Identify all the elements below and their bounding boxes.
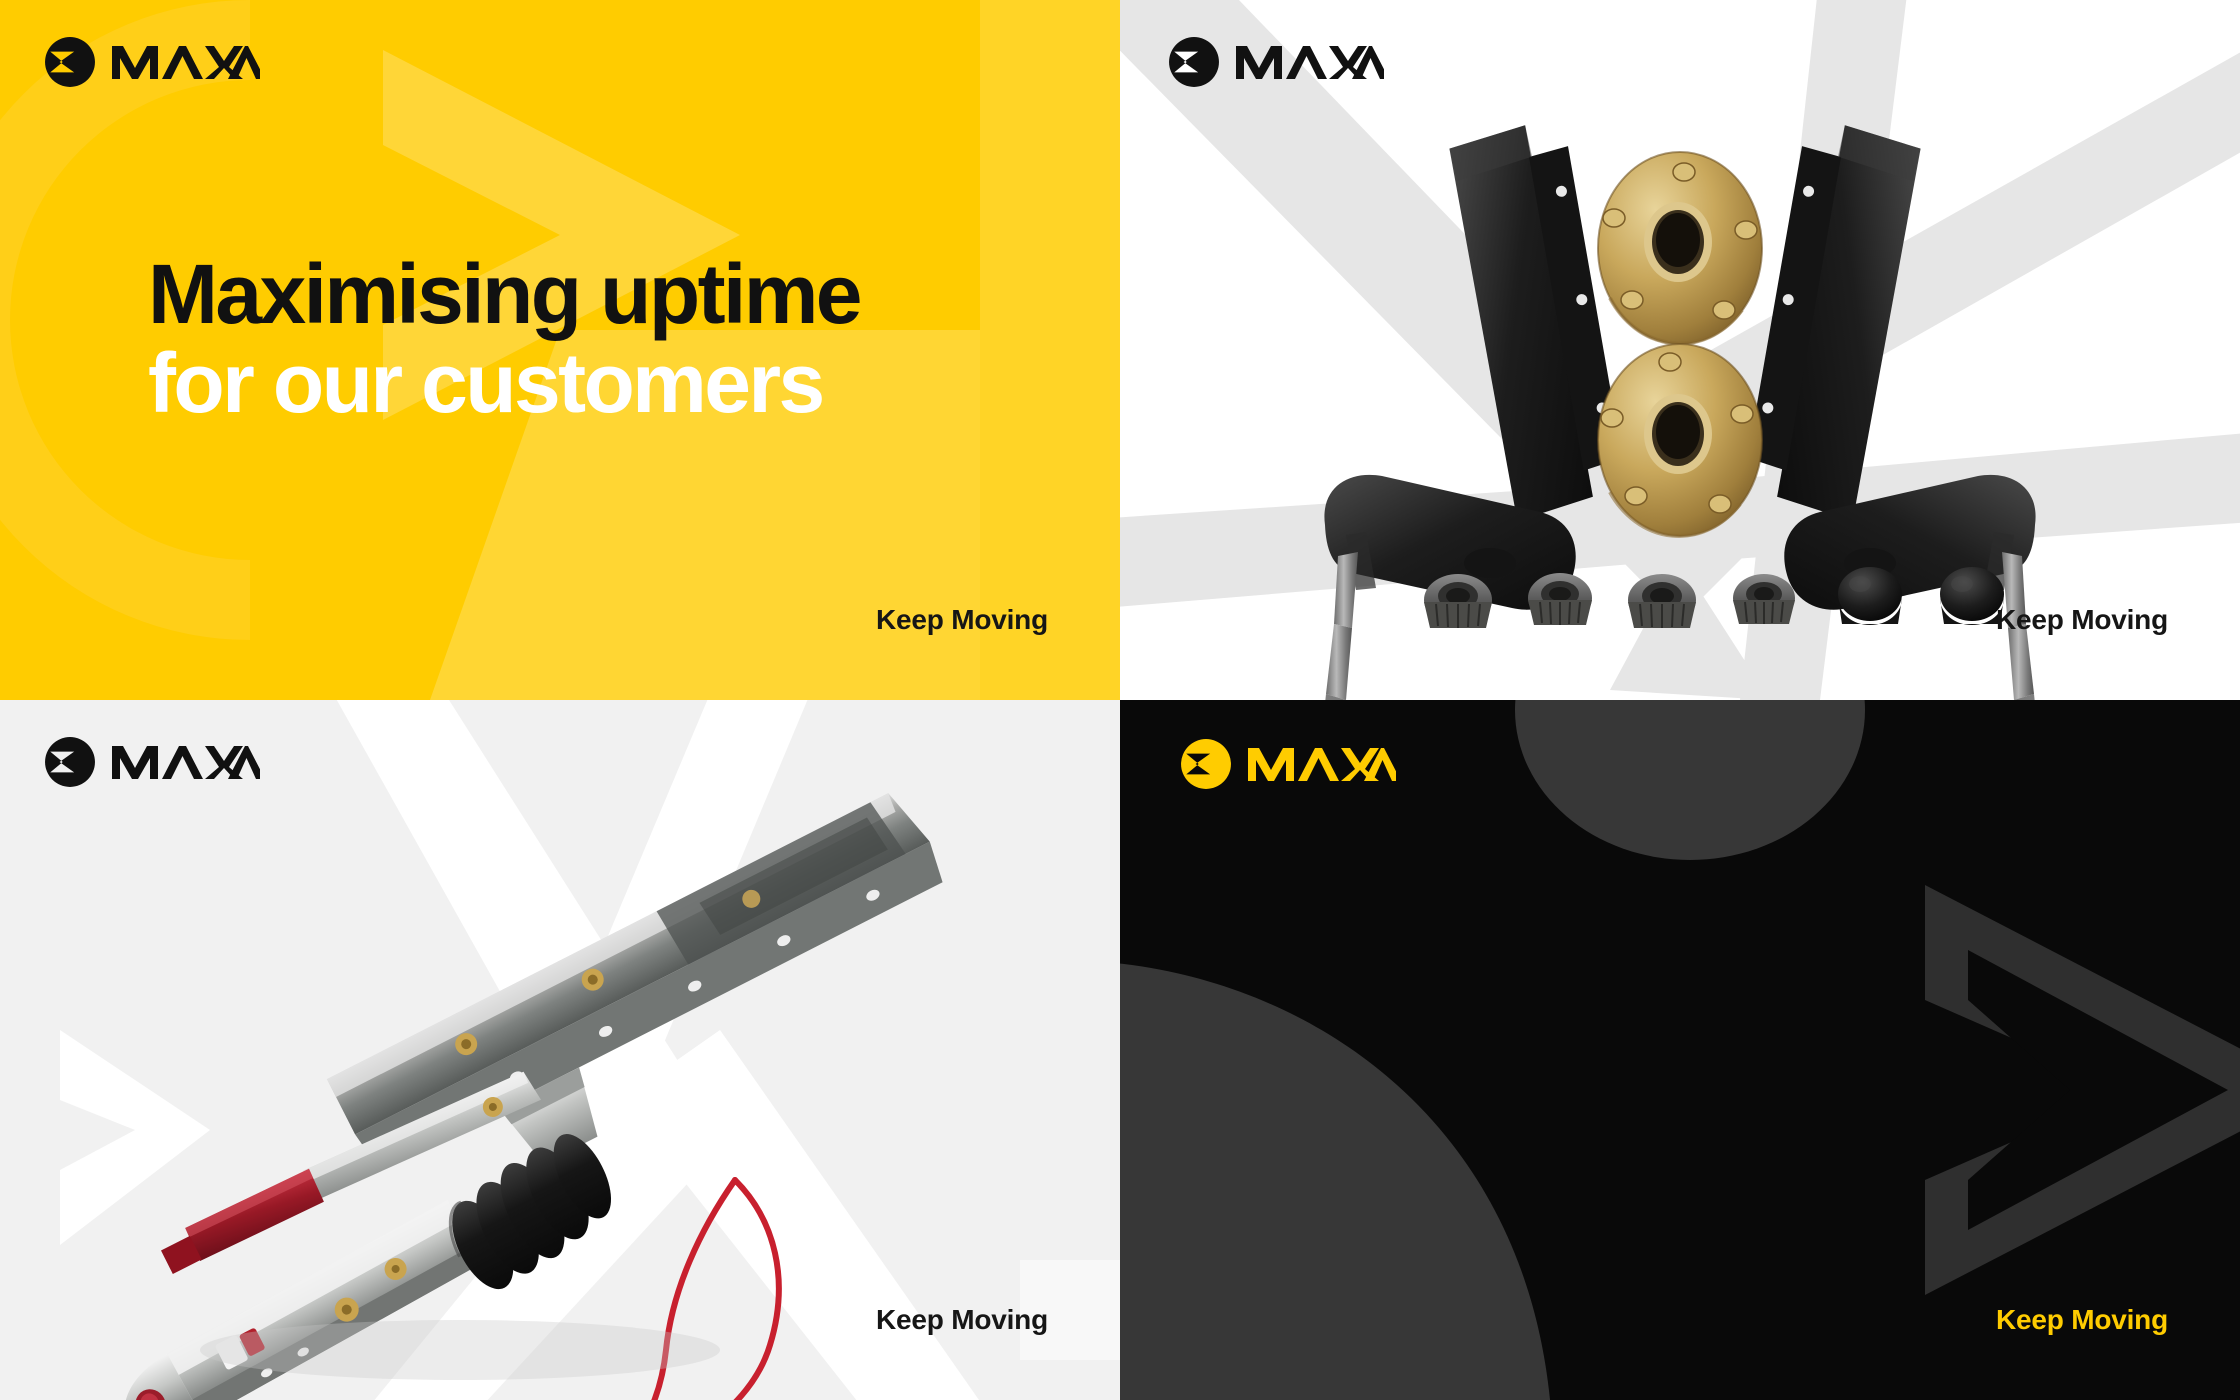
- maxa-chevron-circle-icon: [44, 36, 96, 88]
- headline-line-2: for our customers: [148, 339, 988, 428]
- maxa-wordmark: [1246, 744, 1396, 784]
- yellow-panel-content: Maximising uptime for our customers: [0, 0, 1120, 700]
- four-panel-brand-collage: Maximising uptime for our customers: [0, 0, 2240, 1400]
- grey-chevron-background: [0, 700, 1120, 1400]
- maxa-wordmark: [110, 42, 260, 82]
- maxa-chevron-circle-icon: [1180, 738, 1232, 790]
- tagline-yellow-panel: Keep Moving: [876, 604, 1048, 636]
- product-photo-axle-kit: [1120, 0, 2240, 700]
- logo-maxa-yellow-panel[interactable]: [44, 36, 260, 88]
- panel-wider-range: Wider range Better service Faster delive…: [1120, 700, 2240, 1400]
- headline-maximising-uptime: Maximising uptime for our customers: [148, 250, 988, 428]
- white-star-burst-background: [1120, 0, 2240, 700]
- headline-line-1: Maximising uptime: [148, 250, 988, 339]
- maxa-chevron-circle-icon: [1168, 36, 1220, 88]
- tagline-black-panel: Keep Moving: [1996, 1304, 2168, 1336]
- logo-maxa-black-panel[interactable]: [1180, 738, 1396, 790]
- tagline-grey-panel: Keep Moving: [876, 1304, 1048, 1336]
- maxa-chevron-circle-icon: [44, 736, 96, 788]
- tagline-white-panel: Keep Moving: [1996, 604, 2168, 636]
- maxa-wordmark: [1234, 42, 1384, 82]
- product-photo-brake-coupling: [0, 700, 1120, 1400]
- panel-axle-hub-components: [1120, 0, 2240, 700]
- panel-overrun-coupling: [0, 700, 1120, 1400]
- panel-maximising-uptime: Maximising uptime for our customers: [0, 0, 1120, 700]
- maxa-wordmark: [110, 742, 260, 782]
- black-panel-content: Wider range Better service Faster delive…: [1120, 700, 2240, 1400]
- logo-maxa-grey-panel[interactable]: [44, 736, 260, 788]
- logo-maxa-white-panel[interactable]: [1168, 36, 1384, 88]
